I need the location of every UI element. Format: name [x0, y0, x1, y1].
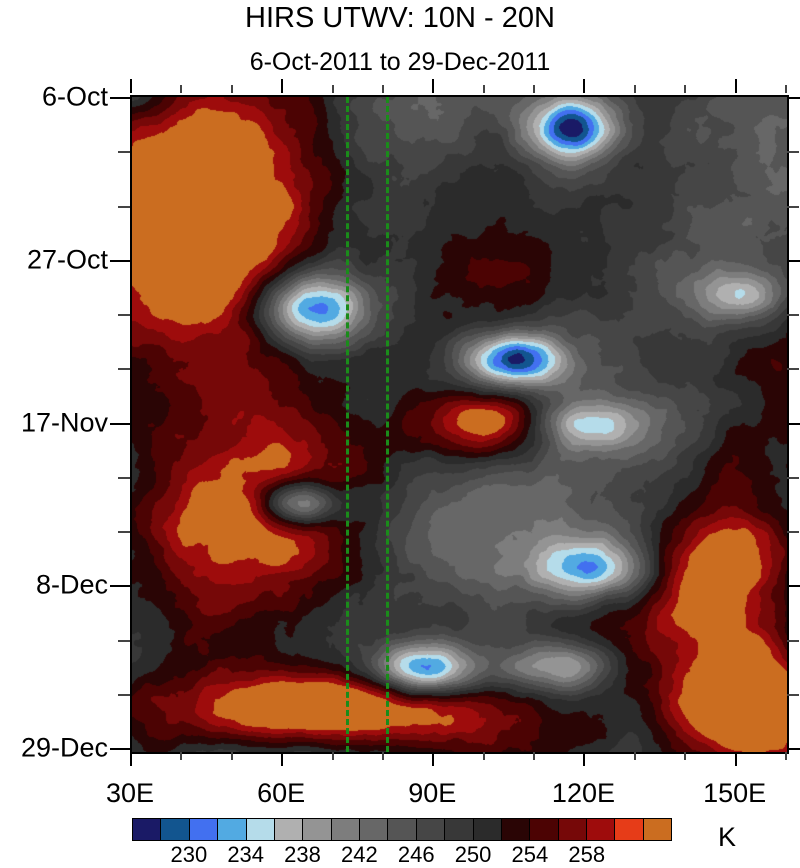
annotation-vline-east	[386, 97, 389, 752]
y-tick-minor	[787, 477, 799, 479]
colorbar-tick-label: 234	[227, 842, 264, 868]
page-title: HIRS UTWV: 10N - 20N	[0, 2, 800, 35]
y-tick-minor	[118, 151, 130, 153]
colorbar-swatch	[275, 819, 303, 840]
x-tick-minor	[684, 85, 686, 93]
colorbar-tick-label: 242	[341, 842, 378, 868]
colorbar-swatch	[388, 819, 416, 840]
colorbar-swatch	[445, 819, 473, 840]
x-tick-label: 150E	[703, 778, 766, 809]
hovmoller-figure: HIRS UTWV: 10N - 20N 6-Oct-2011 to 29-De…	[0, 0, 800, 863]
x-tick-minor	[684, 752, 686, 760]
y-tick-label: 6-Oct	[42, 82, 108, 113]
y-tick-minor	[787, 694, 799, 696]
colorbar-unit-label: K	[718, 822, 736, 853]
colorbar-swatch	[615, 819, 643, 840]
x-tick-minor	[533, 85, 535, 93]
x-tick-major	[432, 79, 434, 93]
x-tick-minor	[483, 85, 485, 93]
colorbar-swatch	[303, 819, 331, 840]
x-tick-minor	[231, 85, 233, 93]
x-tick-minor	[180, 752, 182, 760]
colorbar-swatch	[218, 819, 246, 840]
x-tick-minor	[332, 85, 334, 93]
x-tick-minor	[634, 752, 636, 760]
x-tick-minor	[332, 752, 334, 760]
colorbar-swatch	[530, 819, 558, 840]
y-tick-label: 27-Oct	[27, 244, 108, 275]
y-tick-major	[110, 260, 130, 262]
y-tick-minor	[118, 477, 130, 479]
x-tick-major	[281, 79, 283, 93]
x-tick-minor	[382, 85, 384, 93]
x-tick-major	[735, 79, 737, 93]
y-tick-major	[787, 423, 800, 425]
x-tick-major	[432, 752, 434, 766]
y-tick-minor	[118, 694, 130, 696]
colorbar-tick-label: 258	[568, 842, 605, 868]
colorbar-swatch	[332, 819, 360, 840]
colorbar-tick-label: 246	[398, 842, 435, 868]
y-tick-label: 17-Nov	[21, 407, 108, 438]
colorbar-swatch	[644, 819, 671, 840]
y-tick-minor	[787, 206, 799, 208]
x-tick-minor	[180, 85, 182, 93]
y-tick-minor	[787, 368, 799, 370]
y-tick-minor	[118, 368, 130, 370]
y-tick-major	[110, 97, 130, 99]
x-tick-major	[130, 752, 132, 766]
x-tick-minor	[231, 752, 233, 760]
colorbar-tick-label: 250	[455, 842, 492, 868]
y-tick-label: 29-Dec	[21, 733, 108, 764]
x-tick-label: 30E	[106, 778, 154, 809]
x-tick-minor	[785, 752, 787, 760]
page-subtitle: 6-Oct-2011 to 29-Dec-2011	[0, 48, 800, 77]
colorbar-swatch	[133, 819, 161, 840]
colorbar-swatch	[474, 819, 502, 840]
y-tick-minor	[787, 531, 799, 533]
x-tick-label: 120E	[552, 778, 615, 809]
annotation-vline-west	[346, 97, 349, 752]
y-tick-minor	[118, 640, 130, 642]
y-tick-minor	[787, 151, 799, 153]
colorbar-tick-label: 254	[512, 842, 549, 868]
colorbar-swatch	[587, 819, 615, 840]
y-tick-major	[787, 97, 800, 99]
x-tick-minor	[533, 752, 535, 760]
x-tick-minor	[382, 752, 384, 760]
x-tick-major	[281, 752, 283, 766]
colorbar-swatch	[161, 819, 189, 840]
colorbar	[132, 818, 672, 841]
colorbar-swatch	[559, 819, 587, 840]
colorbar-tick-label: 230	[170, 842, 207, 868]
heatmap-canvas	[132, 97, 787, 752]
x-tick-minor	[634, 85, 636, 93]
colorbar-swatch	[502, 819, 530, 840]
y-tick-minor	[118, 206, 130, 208]
y-tick-label: 8-Dec	[36, 570, 108, 601]
y-tick-major	[787, 585, 800, 587]
y-tick-minor	[118, 531, 130, 533]
y-tick-minor	[787, 640, 799, 642]
colorbar-swatch	[417, 819, 445, 840]
y-tick-minor	[787, 314, 799, 316]
plot-area	[130, 95, 789, 754]
x-tick-major	[735, 752, 737, 766]
y-tick-major	[110, 423, 130, 425]
x-tick-minor	[483, 752, 485, 760]
y-tick-major	[110, 585, 130, 587]
x-tick-label: 90E	[408, 778, 456, 809]
colorbar-swatch	[247, 819, 275, 840]
colorbar-swatch	[190, 819, 218, 840]
x-tick-major	[583, 79, 585, 93]
x-tick-label: 60E	[257, 778, 305, 809]
colorbar-tick-label: 238	[284, 842, 321, 868]
y-tick-major	[787, 260, 800, 262]
x-tick-major	[130, 79, 132, 93]
y-tick-major	[787, 748, 800, 750]
x-tick-major	[583, 752, 585, 766]
y-tick-minor	[118, 314, 130, 316]
x-tick-minor	[785, 85, 787, 93]
colorbar-swatch	[360, 819, 388, 840]
y-tick-major	[110, 748, 130, 750]
